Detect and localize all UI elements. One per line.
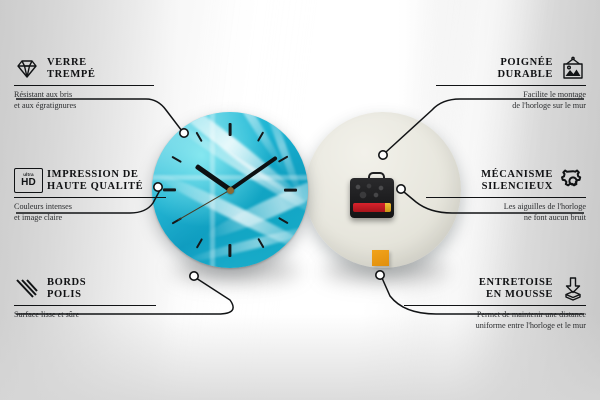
feature-title: IMPRESSION DEHAUTE QUALITÉ (47, 169, 143, 194)
feature-description: Permet de maintenir une distanceuniforme… (404, 310, 586, 331)
feature-mecanisme-silencieux: MÉCANISMESILENCIEUX Les aiguilles de l'h… (426, 168, 586, 223)
feature-description: Surface lisse et sûre (14, 310, 156, 320)
connector-dot-verre (180, 129, 188, 137)
feature-bords-polis: BORDSPOLIS Surface lisse et sûre (14, 276, 156, 321)
feature-title: MÉCANISMESILENCIEUX (481, 169, 553, 194)
feature-rule (436, 85, 586, 86)
ultra-hd-badge: ultra HD (14, 168, 43, 193)
connector-dot-mecanisme (397, 185, 405, 193)
feature-rule (404, 305, 586, 306)
ultra-hd-icon: ultra HD (14, 168, 40, 194)
foam-spacer-icon (560, 276, 586, 302)
feature-header: BORDSPOLIS (14, 276, 156, 302)
polished-edges-icon (14, 276, 40, 302)
feature-header: ENTRETOISEEN MOUSSE (404, 276, 586, 302)
feature-title: ENTRETOISEEN MOUSSE (479, 277, 553, 302)
diamond-icon (14, 56, 40, 82)
feature-verre-trempe: VERRETREMPÉ Résistant aux briset aux égr… (14, 56, 154, 111)
feature-title: BORDSPOLIS (47, 277, 86, 302)
feature-rule (14, 85, 154, 86)
picture-frame-icon (560, 56, 586, 82)
feature-description: Facilite le montagede l'horloge sur le m… (436, 90, 586, 111)
feature-description: Les aiguilles de l'horlogene font aucun … (426, 202, 586, 223)
feature-description: Résistant aux briset aux égratignures (14, 90, 154, 111)
feature-poignee-durable: POIGNÉEDURABLE Facilite le montagede l'h… (436, 56, 586, 111)
feature-header: ultra HD IMPRESSION DEHAUTE QUALITÉ (14, 168, 166, 194)
feature-entretoise-en-mousse: ENTRETOISEEN MOUSSE Permet de maintenir … (404, 276, 586, 331)
connector-dot-poignee (379, 151, 387, 159)
infographic-canvas: VERRETREMPÉ Résistant aux briset aux égr… (0, 0, 600, 400)
connector-dot-bords (190, 272, 198, 280)
feature-rule (14, 197, 166, 198)
feature-impression-haute-qualite: ultra HD IMPRESSION DEHAUTE QUALITÉ Coul… (14, 168, 166, 223)
feature-rule (14, 305, 156, 306)
feature-description: Couleurs intenseset image claire (14, 202, 166, 223)
feature-header: POIGNÉEDURABLE (436, 56, 586, 82)
ultra-hd-badge-main: HD (21, 178, 36, 188)
feature-header: MÉCANISMESILENCIEUX (426, 168, 586, 194)
feature-rule (426, 197, 586, 198)
connector-dot-entretoise (376, 271, 384, 279)
feature-title: VERRETREMPÉ (47, 57, 96, 82)
gear-icon (560, 168, 586, 194)
feature-header: VERRETREMPÉ (14, 56, 154, 82)
feature-title: POIGNÉEDURABLE (497, 57, 553, 82)
